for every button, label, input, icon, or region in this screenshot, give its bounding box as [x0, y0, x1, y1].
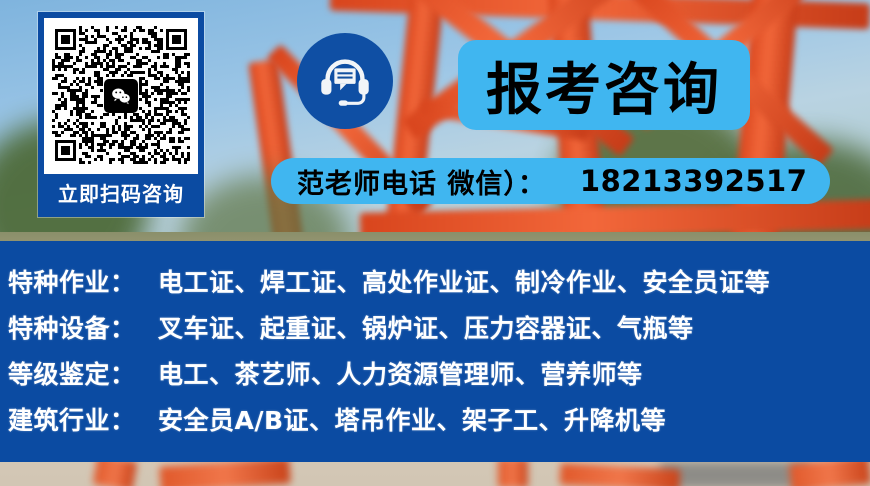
- qr-code-image[interactable]: [44, 18, 198, 174]
- title-pill[interactable]: 报考咨询: [458, 40, 750, 130]
- background-ground-object: [660, 462, 810, 486]
- phone-pill[interactable]: 范老师电话 微信）： 18213392517: [271, 158, 830, 204]
- background-ground-beam: [498, 458, 528, 486]
- promo-poster: 立即扫码咨询 报考咨询 范老师电话 微信）： 18213392517: [0, 0, 870, 486]
- qr-code-caption: 立即扫码咨询: [41, 174, 201, 214]
- info-row-category: 建筑行业：: [8, 401, 158, 437]
- info-row: 特种作业： 电工证、焊工证、高处作业证、制冷作业、安全员证等: [8, 263, 870, 309]
- qr-code-card[interactable]: 立即扫码咨询: [38, 12, 204, 217]
- info-row-items: 叉车证、起重证、锅炉证、压力容器证、气瓶等: [158, 309, 870, 345]
- info-row-items: 安全员A/B证、塔吊作业、架子工、升降机等: [158, 401, 870, 437]
- info-row: 等级鉴定： 电工、茶艺师、人力资源管理师、营养师等: [8, 355, 870, 401]
- info-row: 特种设备： 叉车证、起重证、锅炉证、压力容器证、气瓶等: [8, 309, 870, 355]
- headset-support-icon: [297, 33, 393, 129]
- info-row-category: 特种作业：: [8, 263, 158, 299]
- certificate-list-panel: 特种作业： 电工证、焊工证、高处作业证、制冷作业、安全员证等 特种设备： 叉车证…: [0, 241, 870, 462]
- phone-pill-label: 范老师电话 微信）：: [297, 162, 546, 201]
- info-row-category: 等级鉴定：: [8, 355, 158, 391]
- info-row-category: 特种设备：: [8, 309, 158, 345]
- info-row-items: 电工、茶艺师、人力资源管理师、营养师等: [158, 355, 870, 391]
- info-row-items: 电工证、焊工证、高处作业证、制冷作业、安全员证等: [158, 263, 870, 299]
- info-row: 建筑行业： 安全员A/B证、塔吊作业、架子工、升降机等: [8, 401, 870, 447]
- title-pill-label: 报考咨询: [486, 45, 722, 126]
- wechat-icon: [104, 79, 138, 113]
- phone-number[interactable]: 18213392517: [580, 164, 807, 198]
